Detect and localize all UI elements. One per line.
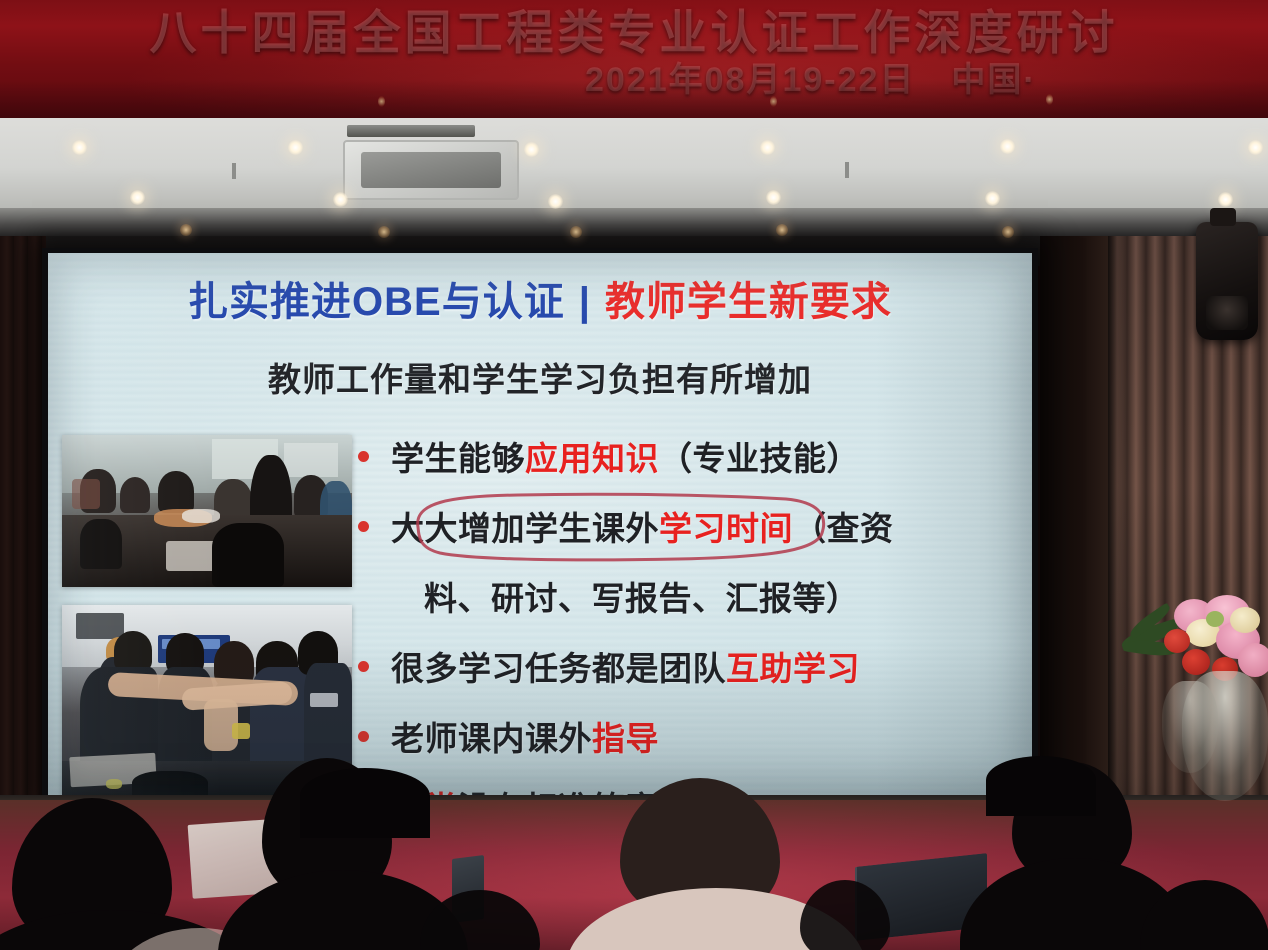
ceiling-downlight-dim <box>570 226 582 238</box>
foreground-silhouette <box>986 756 1096 816</box>
conference-room-photo: 八十四届全国工程类专业认证工作深度研讨 2021年08月19-22日 中国· <box>0 0 1268 950</box>
slide-title: 扎实推进OBE与认证|教师学生新要求 <box>48 269 1032 327</box>
bullet-text: 老师课内课外指导 <box>391 712 659 760</box>
slide-photo-team <box>62 605 352 795</box>
ceiling-downlight <box>1248 140 1263 155</box>
bullet-continuation: 料、研讨、写报告、汇报等） <box>358 561 1018 631</box>
slide-bullet-list: 学生能够应用知识（专业技能） 大大增加学生课外学习时间（查资 料、研讨、写报告、… <box>358 421 1018 795</box>
bullet-dot-icon <box>358 661 369 672</box>
ceiling-downlight <box>760 140 775 155</box>
flower-red-rose <box>1164 629 1190 653</box>
ceiling-downlight-dim <box>776 224 788 236</box>
bullet-item-annotated: 大大增加学生课外学习时间（查资 <box>358 491 1018 561</box>
slide-title-separator: | <box>579 280 591 324</box>
ceiling-panel <box>0 118 1268 208</box>
bullet-text: 很多学习任务都是团队互助学习 <box>391 642 860 690</box>
slide-title-blue: 扎实推进OBE与认证 <box>188 280 565 324</box>
ceiling-downlight <box>288 140 303 155</box>
ceiling-downlight <box>548 194 563 209</box>
bullet-dot-icon <box>358 731 369 742</box>
bullet-item: 老师课内课外指导 <box>358 701 1018 771</box>
laptop-icon <box>855 853 987 941</box>
baby-breath-spray <box>1162 681 1218 773</box>
bullet-dot-icon <box>358 451 369 462</box>
sprinkler-icon <box>845 162 849 178</box>
bullet-dot-icon <box>358 521 369 532</box>
slide-subtitle: 教师工作量和学生学习负担有所增加 <box>48 353 1032 401</box>
flower-cream <box>1230 607 1260 633</box>
stage-spotlight-fixture <box>1196 222 1258 340</box>
floral-arrangement <box>1120 595 1268 845</box>
laptop-icon <box>452 855 484 923</box>
slide-title-red: 教师学生新要求 <box>605 280 892 324</box>
sprinkler-icon <box>232 163 236 179</box>
ceiling-downlight <box>1218 192 1233 207</box>
bullet-text: 料、研讨、写报告、汇报等） <box>424 572 860 620</box>
hvac-slot <box>347 125 475 137</box>
ceiling-downlight <box>1000 139 1015 154</box>
ceiling-downlight <box>130 190 145 205</box>
ceiling-downlight <box>524 142 539 157</box>
spotlight-lens-icon <box>1206 296 1248 330</box>
hvac-vent-icon <box>343 140 519 200</box>
bullet-item: 很多学习任务都是团队互助学习 <box>358 631 1018 701</box>
ceiling-downlight-dim <box>378 226 390 238</box>
slide-photo-classroom <box>62 435 352 587</box>
banner-shadow <box>0 80 1268 118</box>
bullet-text: 课堂没有标准答案 <box>391 782 659 795</box>
ceiling-downlight <box>985 191 1000 206</box>
stage-backdrop-banner: 八十四届全国工程类专业认证工作深度研讨 2021年08月19-22日 中国· <box>0 0 1268 118</box>
ceiling-downlight-dim <box>1002 226 1014 238</box>
projection-screen: 扎实推进OBE与认证|教师学生新要求 教师工作量和学生学习负担有所增加 <box>48 253 1032 795</box>
ceiling-downlight <box>766 190 781 205</box>
flower-red-rose <box>1182 649 1210 675</box>
foreground-silhouette <box>300 768 430 838</box>
ceiling-downlight <box>333 192 348 207</box>
bullet-item: 学生能够应用知识（专业技能） <box>358 421 1018 491</box>
bullet-item-occluded: 课堂没有标准答案 <box>358 771 1018 795</box>
bullet-text: 学生能够应用知识（专业技能） <box>391 432 860 480</box>
flower-green-bud <box>1206 611 1224 627</box>
ceiling-downlight-dim <box>180 224 192 236</box>
ceiling-downlight <box>72 140 87 155</box>
bullet-text: 大大增加学生课外学习时间（查资 <box>391 502 894 550</box>
